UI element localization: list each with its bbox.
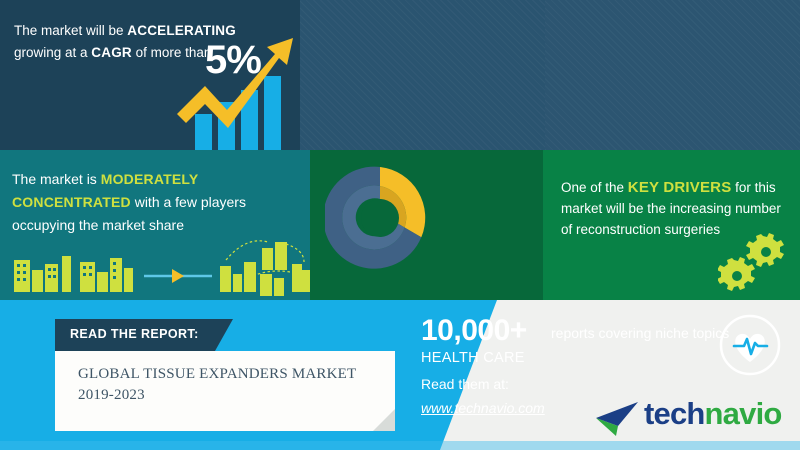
drivers-text-bold: KEY DRIVERS [628,179,732,196]
reports-count: 10,000+ [421,314,527,348]
apac-donut-chart [325,163,435,273]
report-category: HEALTH CARE [421,350,525,366]
panel-market-concentration: The market is MODERATELY CONCENTRATED wi… [0,150,310,300]
page-fold-icon [373,409,395,431]
city-buildings-icon [4,234,310,296]
cagr-text-pre: The market will be [14,23,127,38]
footer-row: READ THE REPORT: GLOBAL TISSUE EXPANDERS… [0,300,800,450]
read-them-at-label: Read them at: [421,376,509,392]
panel-cagr: The market will be ACCELERATING growing … [0,0,300,150]
technavio-wordmark: technavio [644,396,782,432]
concentration-text-pre: The market is [12,171,101,187]
gears-icon [718,232,788,294]
read-report-tab-tip [215,319,233,351]
report-title-line1: GLOBAL TISSUE EXPANDERS MARKET [78,366,356,382]
infographic-root: The market will be ACCELERATING growing … [0,0,800,450]
concentration-text: The market is MODERATELY CONCENTRATED wi… [12,168,302,237]
logo-text-navio: navio [705,396,782,431]
drivers-text: One of the KEY DRIVERS for this market w… [561,177,793,240]
panel-key-drivers: One of the KEY DRIVERS for this market w… [543,150,800,300]
reports-caption: reports covering niche topics [551,325,729,341]
top-row: The market will be ACCELERATING growing … [0,0,800,150]
panel-yoy-growth: The year-over-year growth rate for 2019 … [545,0,800,150]
cagr-text-mid: growing at a [14,45,91,60]
report-title: GLOBAL TISSUE EXPANDERS MARKET 2019-2023 [78,364,378,406]
cagr-text-bold-cagr: CAGR [91,45,132,60]
drivers-text-pre: One of the [561,180,628,195]
report-title-line2: 2019-2023 [78,387,145,403]
logo-text-tech: tech [644,396,705,431]
donut-center-hole [361,199,399,237]
health-heartbeat-icon [717,312,783,378]
website-url[interactable]: www.technavio.com [421,400,545,416]
panel-incremental-growth: INCREMENTAL GROWTH $320.64 mn 2018 2023 [300,0,545,150]
read-report-label: READ THE REPORT: [70,327,199,341]
rising-bar-arrow-chart-icon [175,18,310,150]
